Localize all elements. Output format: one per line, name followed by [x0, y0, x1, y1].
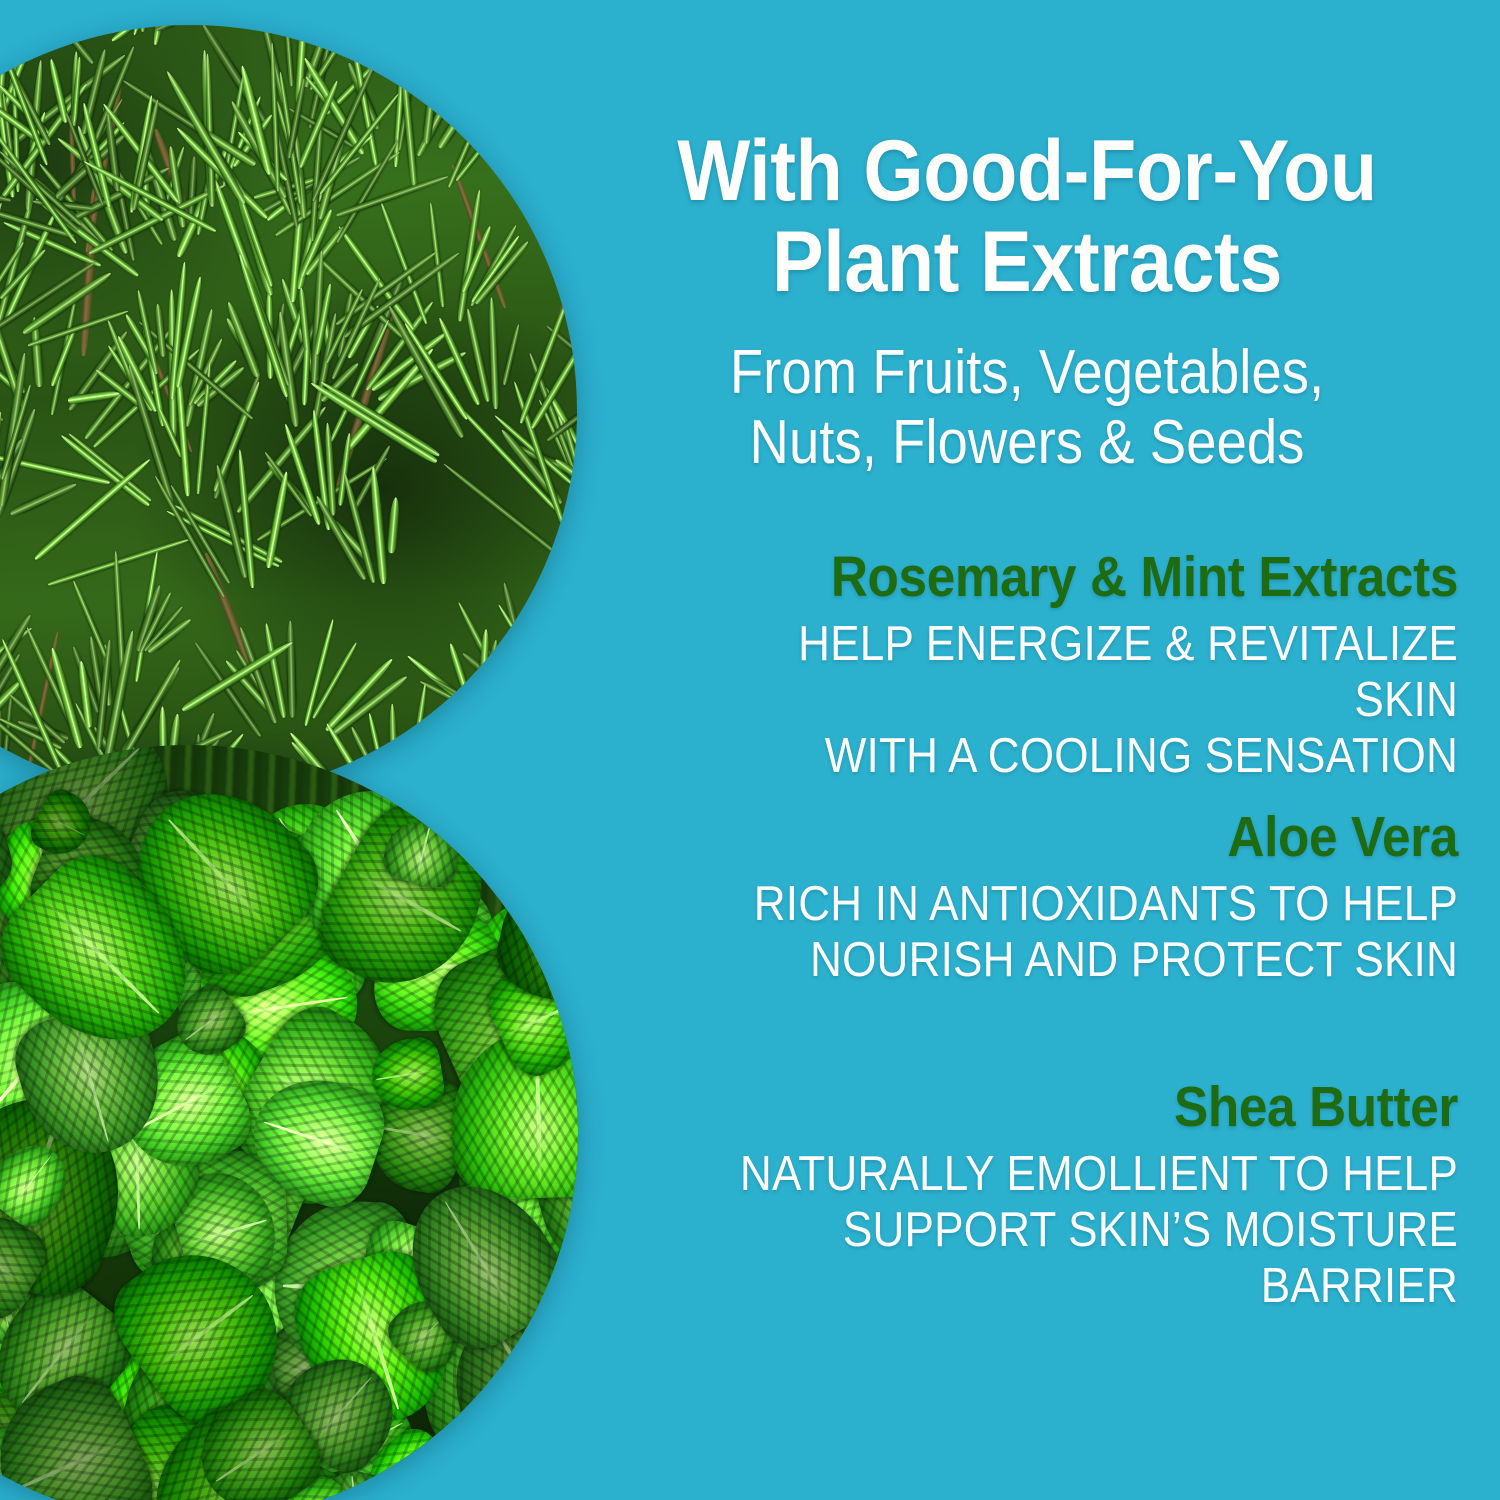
ingredient-description-line-1: NATURALLY EMOLLIENT TO HELP	[682, 1147, 1458, 1203]
ingredient-description-line-2: WITH A COOLING SENSATION	[682, 729, 1458, 785]
ingredient-description: NATURALLY EMOLLIENT TO HELP SUPPORT SKIN…	[682, 1147, 1458, 1315]
ingredient-title: Aloe Vera	[682, 808, 1458, 867]
ingredient-description-line-2: NOURISH AND PROTECT SKIN	[682, 933, 1458, 989]
rosemary-needles	[0, 25, 577, 797]
headline-line-1: With Good-For-You	[639, 126, 1415, 217]
ingredient-description-line-1: RICH IN ANTIOXIDANTS TO HELP	[682, 877, 1458, 933]
ingredient-block-shea-butter: Shea Butter NATURALLY EMOLLIENT TO HELP …	[596, 1078, 1458, 1315]
ingredient-title: Shea Butter	[682, 1078, 1458, 1137]
copy-column: With Good-For-You Plant Extracts From Fr…	[596, 0, 1458, 1500]
ingredient-block-rosemary-mint: Rosemary & Mint Extracts HELP ENERGIZE &…	[596, 548, 1458, 785]
mint-leaves	[0, 745, 578, 1500]
page-subtitle: From Fruits, Vegetables, Nuts, Flowers &…	[648, 338, 1407, 478]
mint-photo	[0, 745, 578, 1500]
product-feature-panel: With Good-For-You Plant Extracts From Fr…	[0, 0, 1500, 1500]
subhead-line-1: From Fruits, Vegetables,	[648, 338, 1407, 408]
ingredient-block-aloe-vera: Aloe Vera RICH IN ANTIOXIDANTS TO HELP N…	[596, 808, 1458, 989]
ingredient-description-line-2: SUPPORT SKIN’S MOISTURE BARRIER	[682, 1203, 1458, 1315]
ingredient-description: RICH IN ANTIOXIDANTS TO HELP NOURISH AND…	[682, 877, 1458, 989]
ingredient-description-line-1: HELP ENERGIZE & REVITALIZE SKIN	[682, 617, 1458, 729]
rosemary-photo	[0, 25, 577, 797]
headline-line-2: Plant Extracts	[639, 217, 1415, 308]
subhead-line-2: Nuts, Flowers & Seeds	[648, 408, 1407, 478]
page-title: With Good-For-You Plant Extracts	[639, 126, 1415, 308]
ingredient-description: HELP ENERGIZE & REVITALIZE SKIN WITH A C…	[682, 617, 1458, 785]
ingredient-title: Rosemary & Mint Extracts	[682, 548, 1458, 607]
